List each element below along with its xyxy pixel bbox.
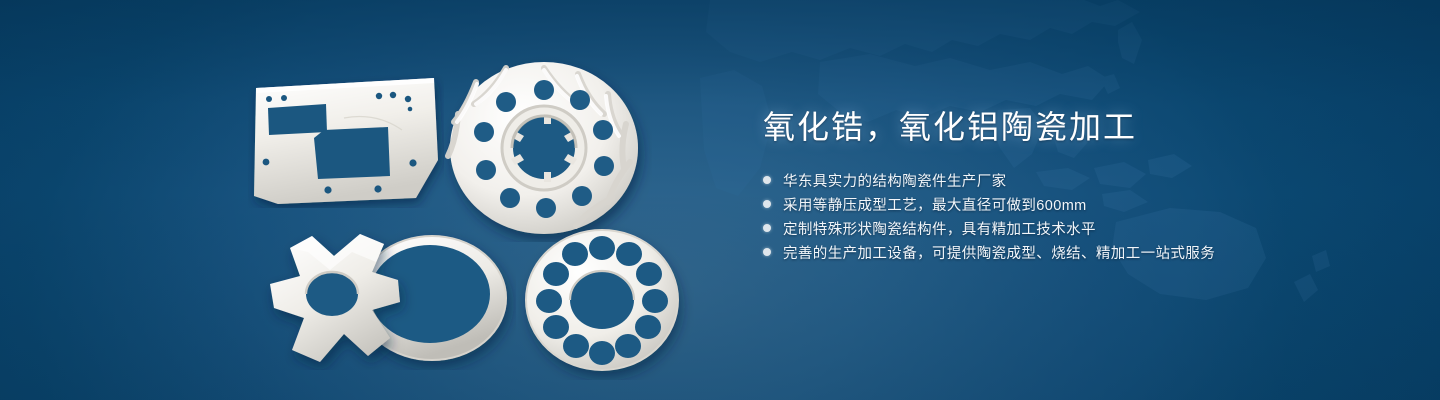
bullet-dot-icon [763, 248, 771, 256]
feature-text: 采用等静压成型工艺，最大直径可做到600mm [783, 194, 1087, 215]
feature-text: 华东具实力的结构陶瓷件生产厂家 [783, 170, 1007, 191]
bullet-dot-icon [763, 224, 771, 232]
bullet-dot-icon [763, 176, 771, 184]
feature-text: 定制特殊形状陶瓷结构件，具有精加工技术水平 [783, 218, 1096, 239]
banner-text-column: 氧化锆，氧化铝陶瓷加工 华东具实力的结构陶瓷件生产厂家 采用等静压成型工艺，最大… [763, 108, 1383, 264]
banner-title: 氧化锆，氧化铝陶瓷加工 [763, 108, 1383, 146]
ceramic-cross-and-ring-image [248, 222, 516, 370]
feature-text: 完善的生产加工设备，可提供陶瓷成型、烧结、精加工一站式服务 [783, 242, 1215, 263]
feature-list: 华东具实力的结构陶瓷件生产厂家 采用等静压成型工艺，最大直径可做到600mm 定… [763, 168, 1383, 264]
bullet-dot-icon [763, 200, 771, 208]
ceramic-ring-plate-image [518, 222, 694, 380]
list-item: 华东具实力的结构陶瓷件生产厂家 [763, 168, 1383, 192]
hero-banner: 氧化锆，氧化铝陶瓷加工 华东具实力的结构陶瓷件生产厂家 采用等静压成型工艺，最大… [0, 0, 1440, 400]
list-item: 完善的生产加工设备，可提供陶瓷成型、烧结、精加工一站式服务 [763, 240, 1383, 264]
ceramic-plate-image [248, 72, 444, 208]
list-item: 定制特殊形状陶瓷结构件，具有精加工技术水平 [763, 216, 1383, 240]
list-item: 采用等静压成型工艺，最大直径可做到600mm [763, 192, 1383, 216]
ceramic-impeller-image [440, 52, 652, 242]
